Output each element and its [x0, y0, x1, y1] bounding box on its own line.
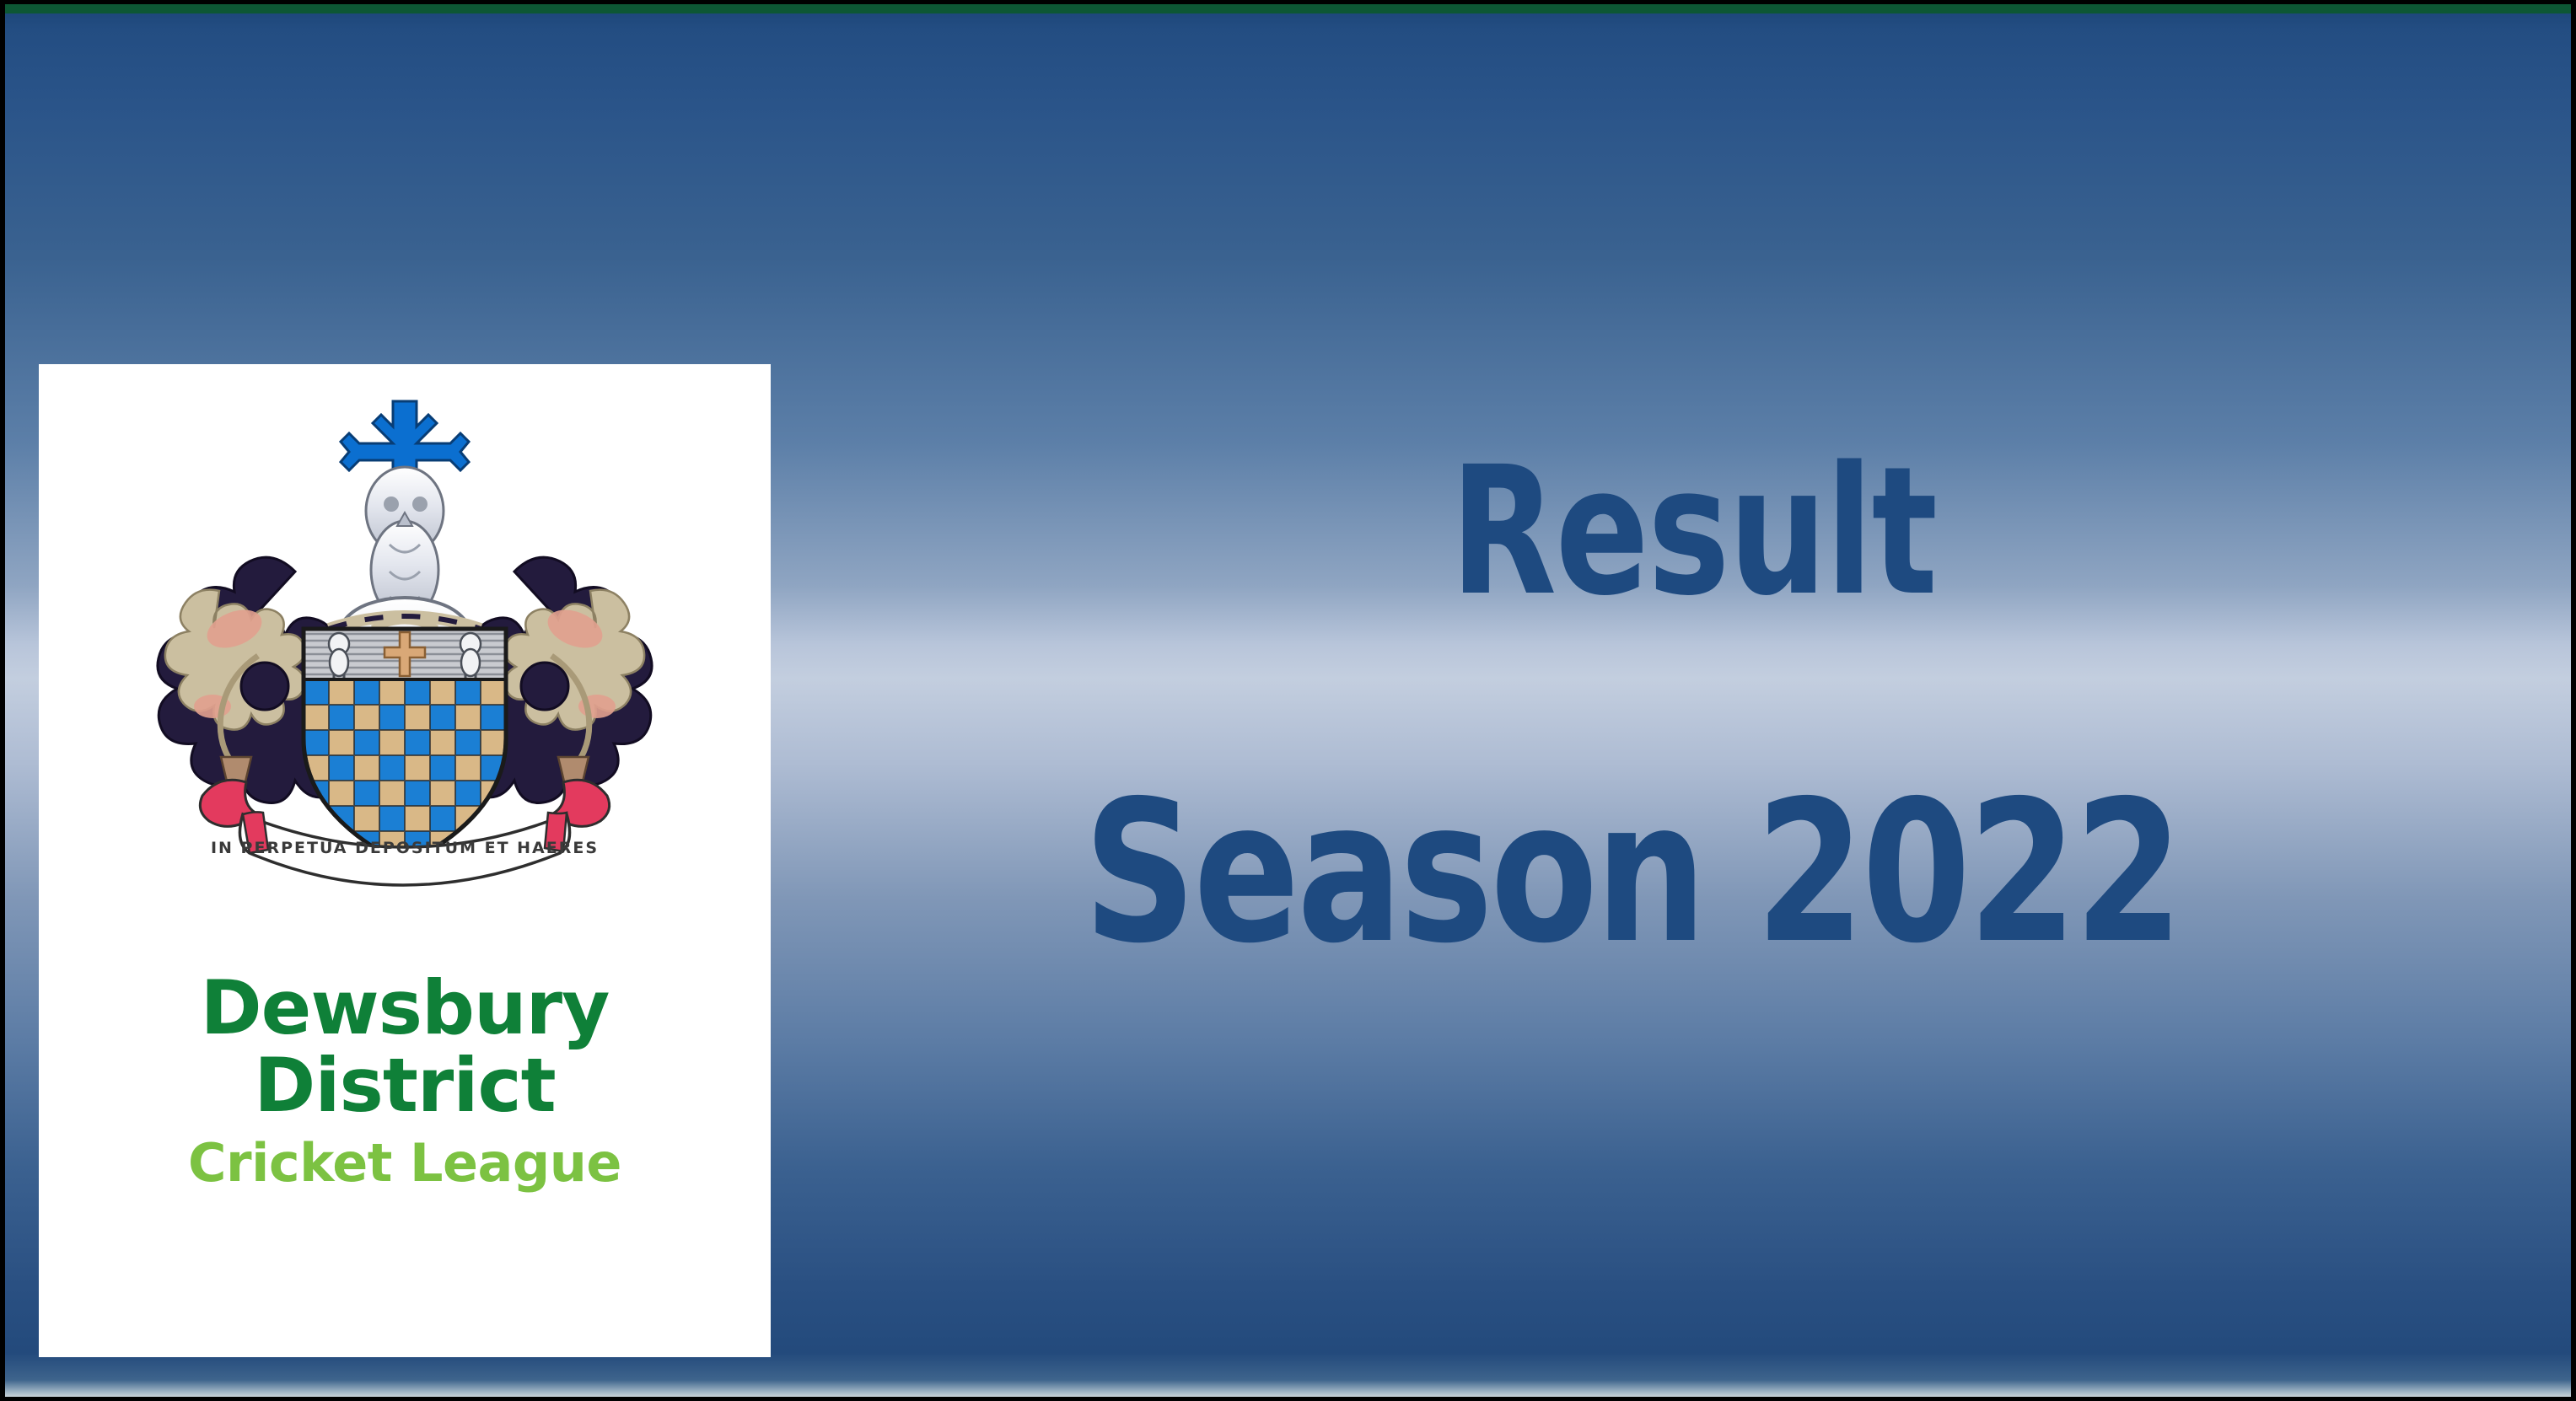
motto-text: IN PERPETUA DEPOSITUM ET HAERES [211, 839, 599, 857]
league-wordmark: Dewsbury District Cricket League [39, 969, 771, 1202]
top-accent-strip [5, 4, 2571, 13]
league-logo-panel: IN PERPETUA DEPOSITUM ET HAERES Dewsbury… [39, 364, 771, 1357]
logo-line-dewsbury: Dewsbury [39, 969, 771, 1047]
coat-of-arms-icon: IN PERPETUA DEPOSITUM ET HAERES [93, 376, 717, 974]
slide-root: IN PERPETUA DEPOSITUM ET HAERES Dewsbury… [0, 0, 2576, 1401]
logo-line-district: District [39, 1047, 771, 1125]
logo-line-cricket-league: Cricket League [39, 1124, 771, 1202]
